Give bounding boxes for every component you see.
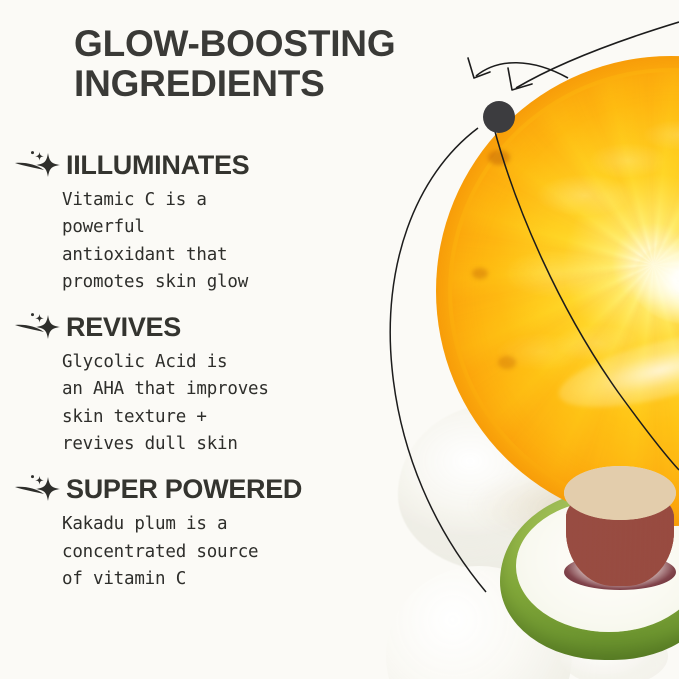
feature-body-text: Vitamic C is a powerful antioxidant that… [62,187,372,296]
sparkle-shooting-star-icon [14,149,64,181]
infographic-canvas: GLOW-BOOSTING INGREDIENTS IILLUMINATES V… [0,0,679,679]
feature-title: SUPER POWERED [66,474,302,505]
feature-body-text: Glycolic Acid is an AHA that improves sk… [62,349,372,458]
feature-title: IILLUMINATES [66,150,249,181]
feature-heading-row: IILLUMINATES [0,146,400,184]
feature-body-text: Kakadu plum is a concentrated source of … [62,511,372,593]
sparkle-shooting-star-icon [14,311,64,343]
feature-heading-row: SUPER POWERED [0,470,400,508]
sparkle-shooting-star-icon [14,473,64,505]
feature-title: REVIVES [66,312,181,343]
page-title-line-1: GLOW-BOOSTING [74,23,395,64]
page-title-line-2: INGREDIENTS [74,64,474,104]
feature-heading-row: REVIVES [0,308,400,346]
page-title: GLOW-BOOSTING INGREDIENTS [74,24,474,104]
feature-item-revives: REVIVES Glycolic Acid is an AHA that imp… [0,308,400,458]
feature-item-illuminates: IILLUMINATES Vitamic C is a powerful ant… [0,146,400,296]
text-content-column: GLOW-BOOSTING INGREDIENTS IILLUMINATES V… [0,0,679,679]
ingredient-feature-list: IILLUMINATES Vitamic C is a powerful ant… [0,146,400,605]
feature-item-super-powered: SUPER POWERED Kakadu plum is a concentra… [0,470,400,593]
